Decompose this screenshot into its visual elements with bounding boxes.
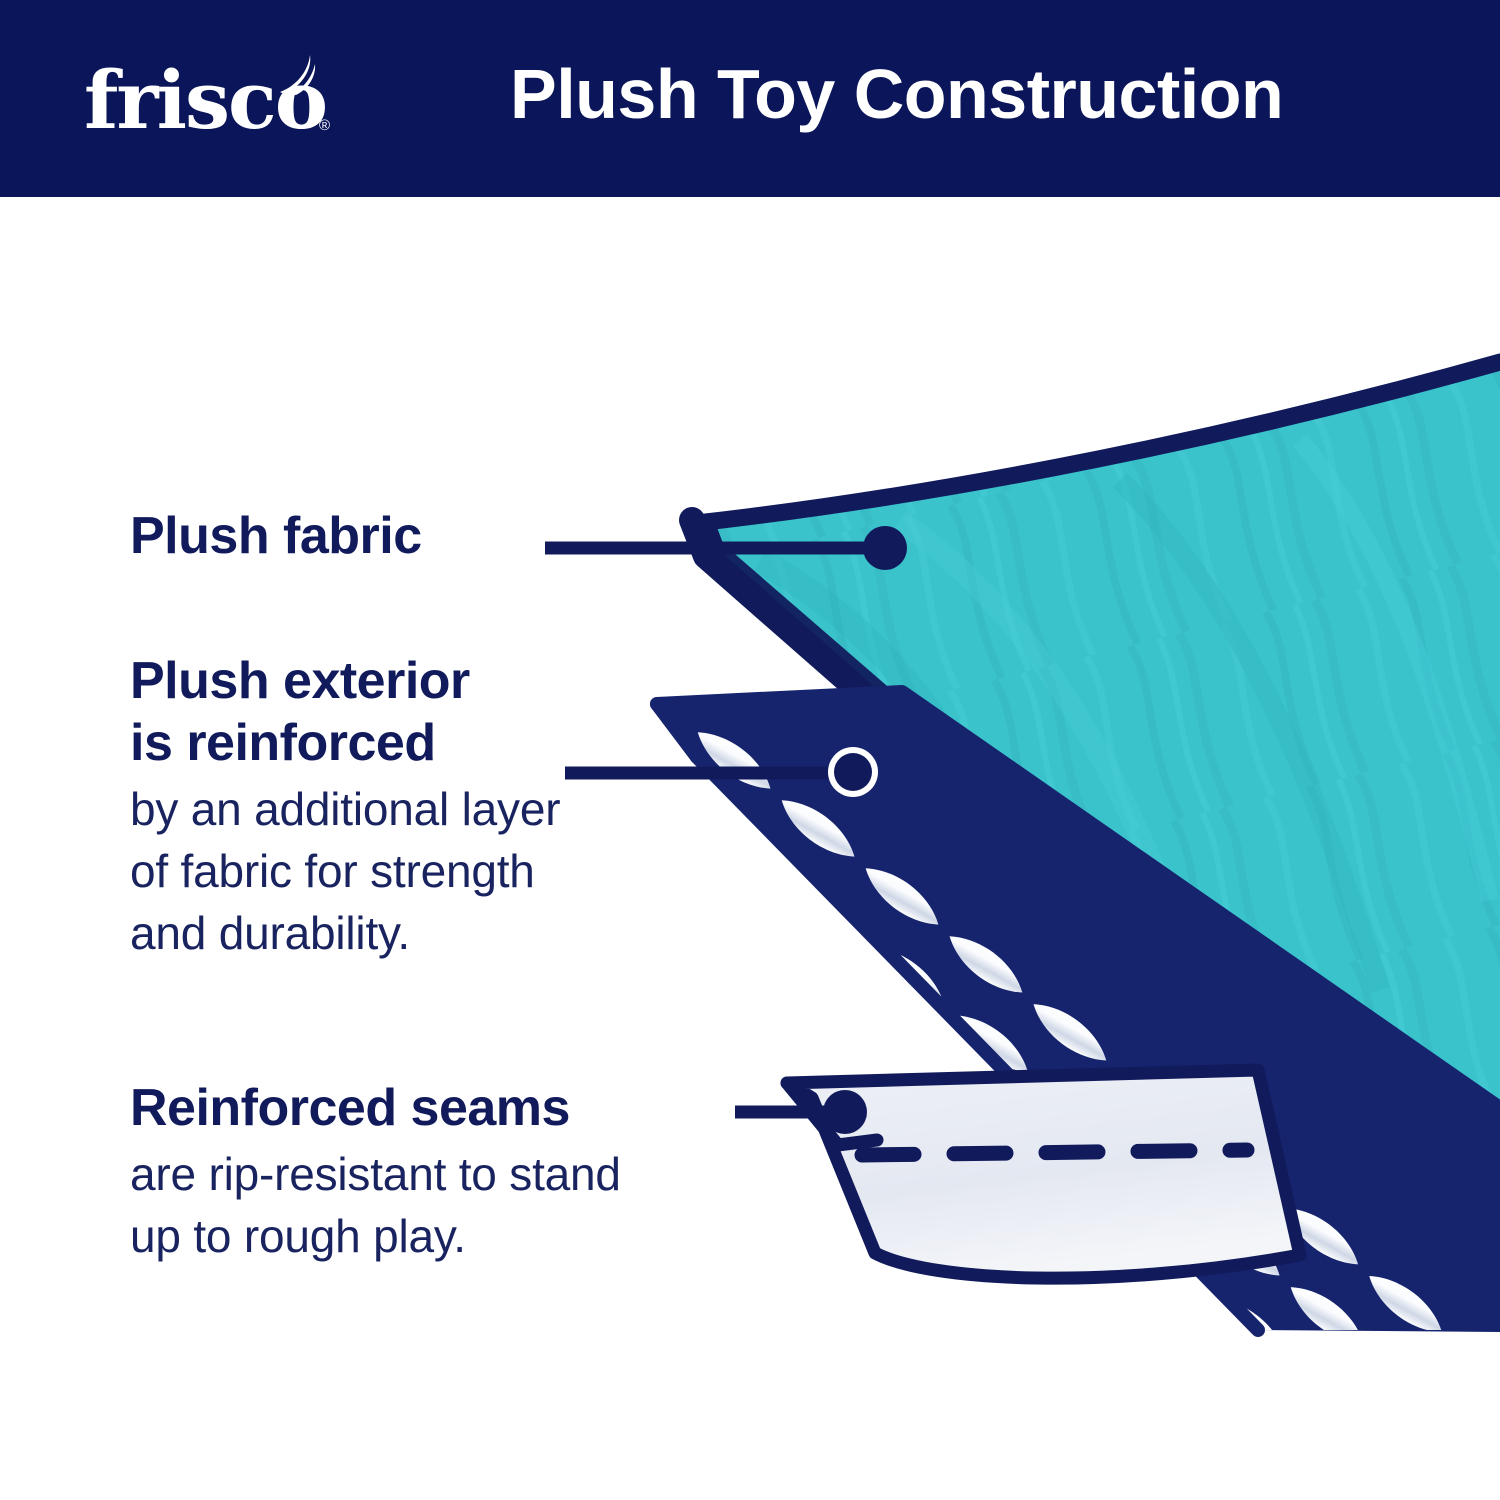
brand-wordmark: frisco bbox=[84, 60, 326, 140]
leader-dot-plush-fabric bbox=[863, 526, 907, 570]
callout-heading: Plush fabric bbox=[130, 505, 422, 567]
frisco-logo: frisco ® bbox=[84, 48, 326, 140]
leader-dot-reinforced-seams bbox=[823, 1090, 867, 1134]
leader-dot-plush-exterior bbox=[834, 753, 872, 791]
callout-heading: Plush exterior is reinforced bbox=[130, 650, 560, 774]
registered-trademark-icon: ® bbox=[319, 117, 330, 134]
callout-plush-exterior: Plush exterior is reinforced by an addit… bbox=[130, 650, 560, 964]
callout-heading: Reinforced seams bbox=[130, 1077, 621, 1139]
header-bar: frisco ® Plush Toy Construction bbox=[0, 0, 1500, 197]
callout-reinforced-seams: Reinforced seams are rip-resistant to st… bbox=[130, 1077, 621, 1267]
stitch-dashed-line bbox=[862, 1150, 1247, 1155]
callout-body: are rip-resistant to stand up to rough p… bbox=[130, 1143, 621, 1267]
callout-body: by an additional layer of fabric for str… bbox=[130, 778, 560, 964]
callout-plush-fabric: Plush fabric bbox=[130, 505, 422, 567]
page-title: Plush Toy Construction bbox=[510, 46, 1283, 142]
